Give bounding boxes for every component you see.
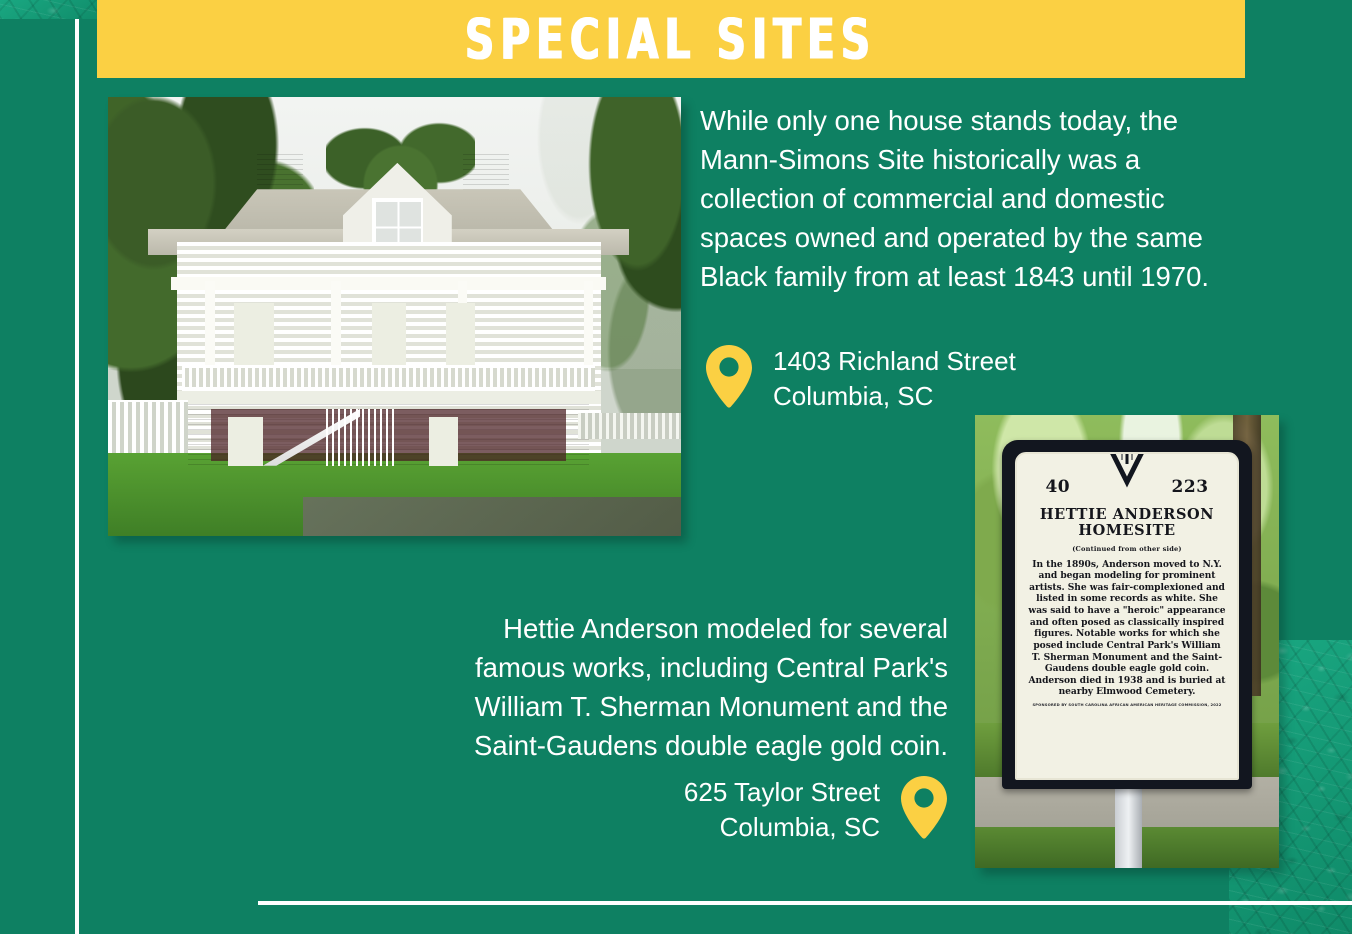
address-street: 1403 Richland Street [773,344,1016,379]
mann-simons-text-block: While only one house stands today, the M… [700,101,1252,296]
marker-sign-face: 40 223 HETTIE ANDERSON HOMESITE (Continu… [1015,452,1239,779]
page-title: SPECIAL SITES [465,6,876,72]
historical-marker-sign: 40 223 HETTIE ANDERSON HOMESITE (Continu… [1002,440,1251,789]
porch-roof [171,277,606,290]
marker-sponsor-text: SPONSORED BY SOUTH CAROLINA AFRICAN AMER… [1017,703,1237,707]
marker-title-line-1: HETTIE ANDERSON [1026,507,1229,523]
map-pin-icon [900,775,948,839]
porch-railing [182,365,595,391]
address-city-state: Columbia, SC [773,379,1016,414]
address-city-state: Columbia, SC [684,810,880,845]
header-banner: SPECIAL SITES [97,0,1245,78]
hettie-anderson-paragraph: Hettie Anderson modeled for several famo… [430,609,948,765]
marker-illustration: 40 223 HETTIE ANDERSON HOMESITE (Continu… [975,415,1279,868]
marker-number-left: 40 [1045,479,1070,496]
photo-mann-simons-house [108,97,681,536]
address-street: 625 Taylor Street [684,775,880,810]
marker-continued-note: (Continued from other side) [1017,545,1237,553]
mann-simons-address: 1403 Richland Street Columbia, SC [705,344,1016,414]
horizontal-divider-line [258,901,1352,905]
hettie-anderson-address: 625 Taylor Street Columbia, SC [430,775,948,845]
marker-title-line-2: HOMESITE [1026,523,1229,539]
basement-door-left [228,417,262,465]
mann-simons-paragraph: While only one house stands today, the M… [700,101,1252,296]
picket-fence-right [578,413,681,439]
dirt-patch [303,497,681,537]
basement-door-right [429,417,458,465]
house-illustration [108,97,681,536]
marker-number-right: 223 [1172,479,1209,496]
photo-hettie-anderson-marker: 40 223 HETTIE ANDERSON HOMESITE (Continu… [975,415,1279,868]
marker-title: HETTIE ANDERSON HOMESITE [1017,507,1237,539]
map-pin-icon [705,344,753,408]
porch-floor [177,391,601,404]
stair-railing [326,409,395,466]
mann-simons-address-lines: 1403 Richland Street Columbia, SC [773,344,1016,414]
poster-canvas: SPECIAL SITES [0,0,1352,934]
picket-fence-left [108,400,188,453]
marker-body-text: In the 1890s, Anderson moved to N.Y. and… [1017,553,1237,698]
vertical-divider-line [75,19,79,934]
texture-accent-top-left [0,0,108,19]
hettie-anderson-address-lines: 625 Taylor Street Columbia, SC [684,775,880,845]
hettie-anderson-text-block: Hettie Anderson modeled for several famo… [430,609,948,765]
